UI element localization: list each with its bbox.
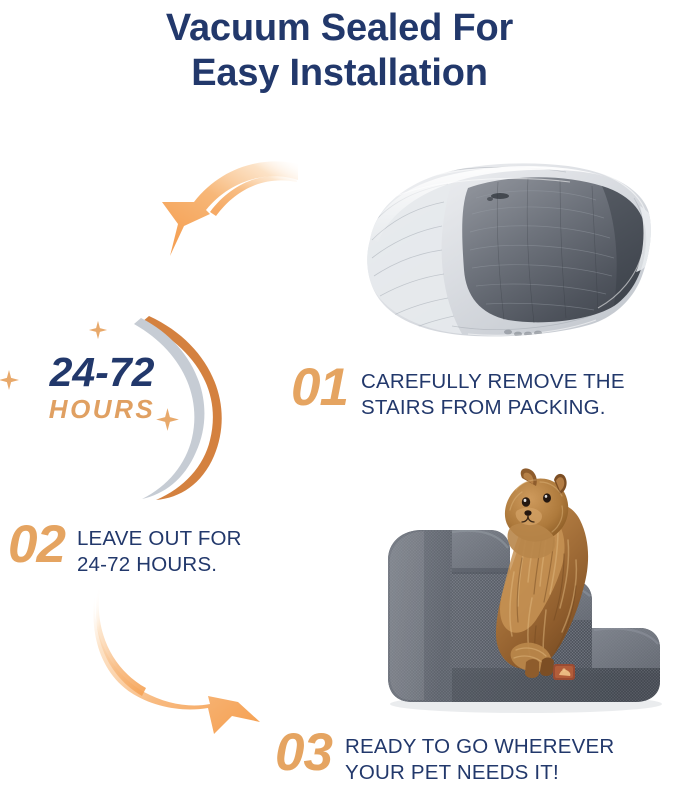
brand-logo-tag [553,664,575,680]
step-number-02: 02 [8,521,65,570]
duration-badge-text: 24-72 HOURS [12,352,192,426]
page-title-line-1: Vacuum Sealed For [0,6,679,51]
arrow-to-badge-icon [148,158,298,308]
step-number-01: 01 [291,364,348,413]
step-text-02-line-1: LEAVE OUT FOR [77,526,242,552]
step-text-02: LEAVE OUT FOR 24-72 HOURS. [65,521,242,578]
page-title: Vacuum Sealed For Easy Installation [0,6,679,96]
step-text-03-line-2: YOUR PET NEEDS IT! [345,760,614,786]
duration-badge-number: 24-72 [12,352,192,393]
duration-badge: 24-72 HOURS [0,300,270,500]
page-title-line-2: Easy Installation [0,51,679,96]
step-text-01-line-2: STAIRS FROM PACKING. [361,395,625,421]
vacuum-sealed-package-photo [348,158,668,348]
infographic-canvas: Vacuum Sealed For Easy Installation [0,0,679,789]
step-text-03-line-1: READY TO GO WHEREVER [345,734,614,760]
step-item-02: 02 LEAVE OUT FOR 24-72 HOURS. [8,521,242,578]
step-number-03: 03 [275,729,332,778]
step-item-03: 03 READY TO GO WHEREVER YOUR PET NEEDS I… [275,729,614,786]
dog-on-pet-stairs-photo [340,468,670,713]
step-item-01: 01 CAREFULLY REMOVE THE STAIRS FROM PACK… [291,364,625,421]
duration-badge-unit: HOURS [12,393,192,426]
arrow-to-step-03-icon [92,584,292,734]
sparkle-icon-top [88,320,108,340]
step-text-02-line-2: 24-72 HOURS. [77,552,242,578]
step-text-01-line-1: CAREFULLY REMOVE THE [361,369,625,395]
step-text-01: CAREFULLY REMOVE THE STAIRS FROM PACKING… [348,364,625,421]
step-text-03: READY TO GO WHEREVER YOUR PET NEEDS IT! [332,729,614,786]
